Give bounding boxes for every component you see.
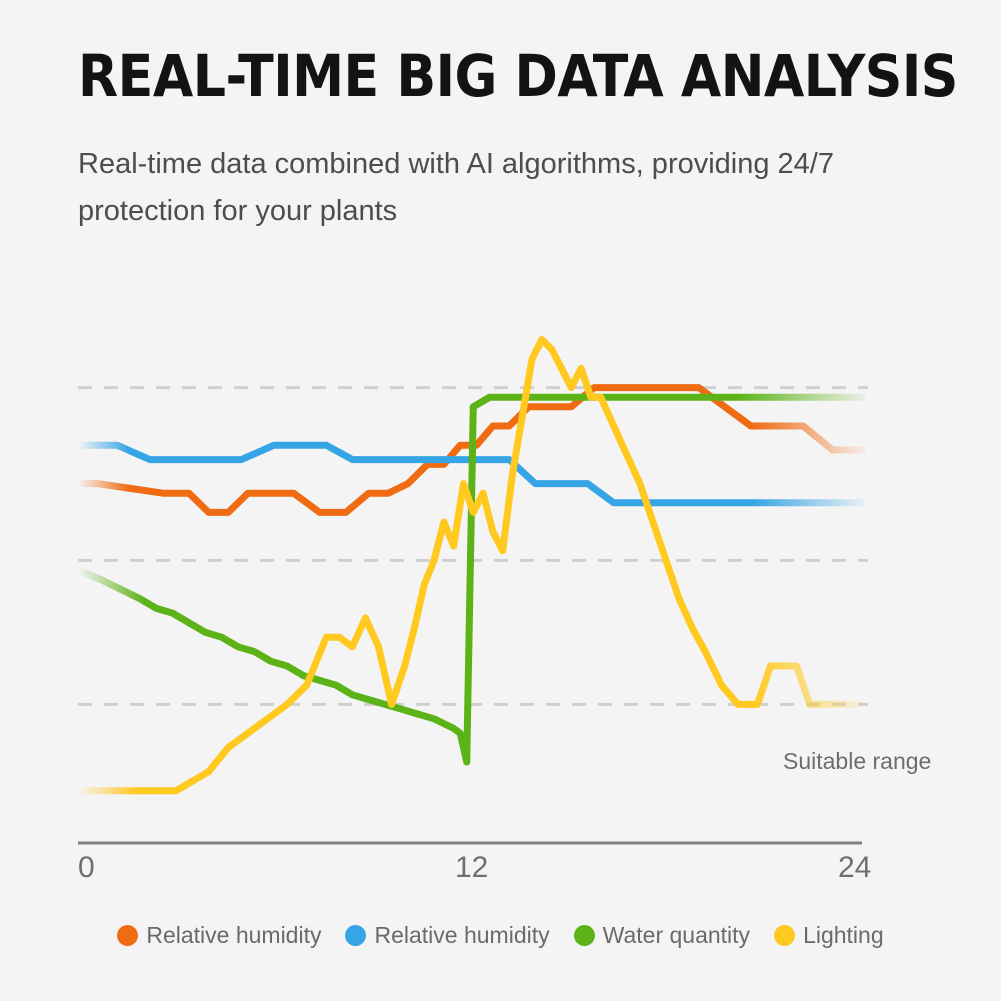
legend-dot-icon (117, 925, 138, 946)
legend-item-label: Relative humidity (146, 922, 321, 949)
page-subtitle: Real-time data combined with AI algorith… (78, 141, 968, 235)
chart-legend: Relative humidity Relative humidity Wate… (0, 922, 1001, 949)
series-paths (78, 340, 862, 791)
x-axis-tick-12: 12 (455, 851, 488, 885)
legend-item[interactable]: Relative humidity (345, 922, 549, 949)
suitable-range-label: Suitable range (783, 748, 931, 775)
header: REAL-TIME BIG DATA ANALYSIS Real-time da… (78, 46, 968, 235)
legend-item-label: Water quantity (603, 922, 750, 949)
x-axis-tick-24: 24 (838, 851, 871, 885)
legend-item-label: Relative humidity (374, 922, 549, 949)
legend-item[interactable]: Lighting (774, 922, 884, 949)
legend-dot-icon (774, 925, 795, 946)
legend-item-label: Lighting (803, 922, 884, 949)
poster-page: REAL-TIME BIG DATA ANALYSIS Real-time da… (0, 0, 1001, 1001)
x-axis-tick-0: 0 (78, 851, 95, 885)
legend-dot-icon (345, 925, 366, 946)
page-title: REAL-TIME BIG DATA ANALYSIS (78, 46, 968, 107)
chart-svg (0, 300, 1001, 880)
legend-item[interactable]: Water quantity (574, 922, 750, 949)
line-chart: Suitable range (0, 300, 1001, 880)
legend-item[interactable]: Relative humidity (117, 922, 321, 949)
legend-dot-icon (574, 925, 595, 946)
